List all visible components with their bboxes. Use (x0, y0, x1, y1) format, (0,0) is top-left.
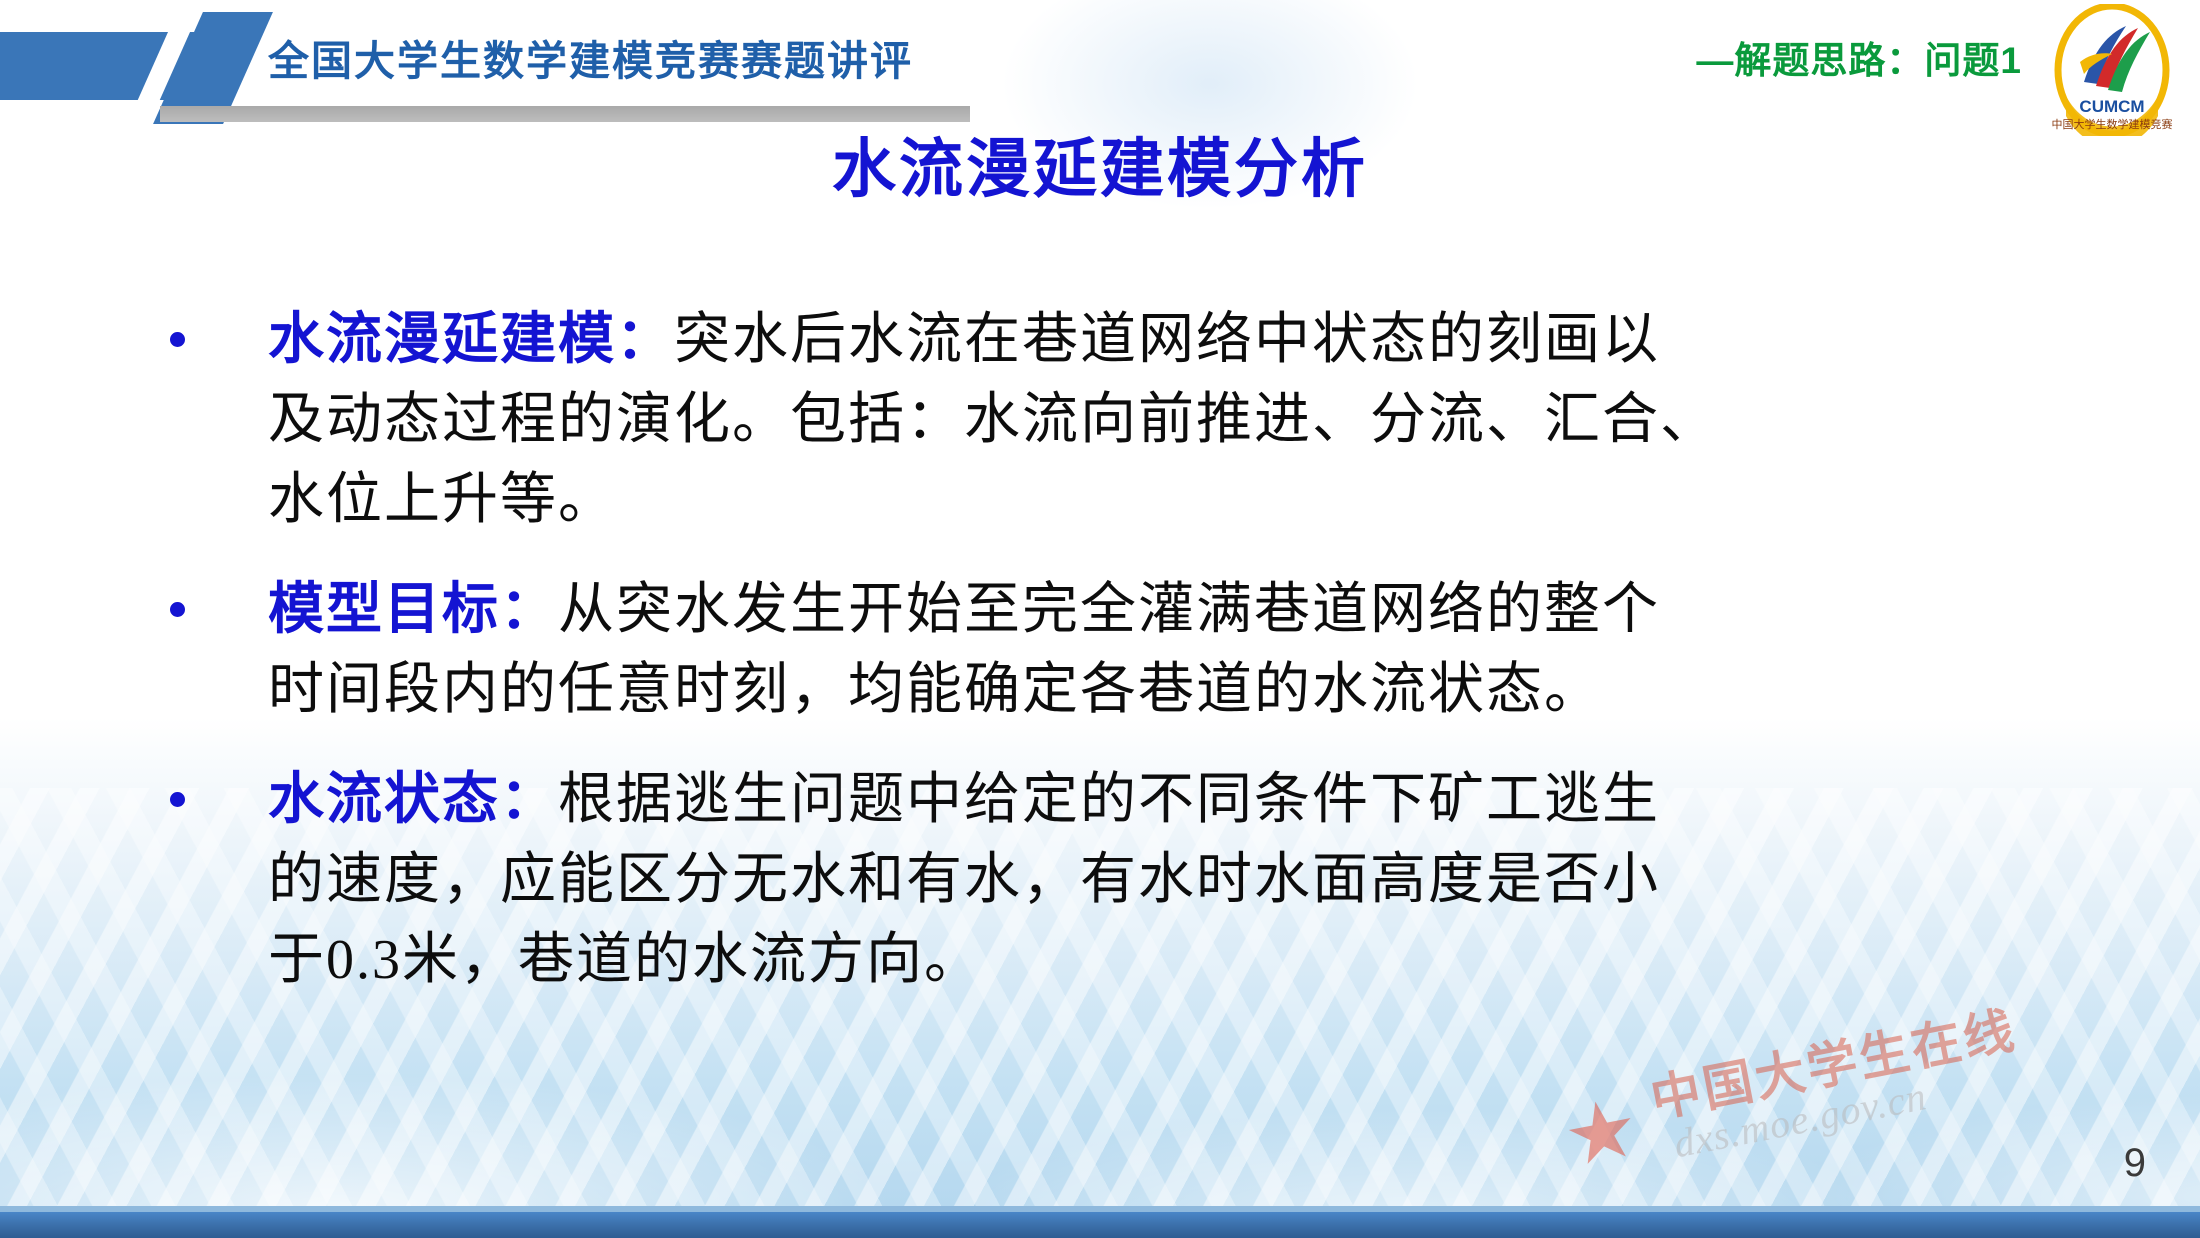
slide-canvas: 全国大学生数学建模竞赛赛题讲评 —解题思路：问题1 CUMCM 中国大学生数学建… (0, 0, 2200, 1238)
bullet-lines: 水流状态：根据逃生问题中给定的不同条件下矿工逃生 的速度，应能区分无水和有水，有… (268, 760, 2080, 1000)
cumcm-logo-icon: CUMCM 中国大学生数学建模竞赛 (2042, 4, 2182, 136)
bullet-text: 根据逃生问题中给定的不同条件下矿工逃生 (558, 769, 1660, 831)
bullet-text: 于0.3米，巷道的水流方向。 (268, 929, 982, 991)
bullet-text: 及动态过程的演化。包括：水流向前推进、分流、汇合、 (268, 389, 1718, 451)
bullet-text: 从突水发生开始至完全灌满巷道网络的整个 (558, 579, 1660, 641)
bullet-dot-icon (170, 602, 185, 617)
bullet-text: 突水后水流在巷道网络中状态的刻画以 (674, 309, 1660, 371)
bullet-line: 的速度，应能区分无水和有水，有水时水面高度是否小 (268, 840, 2080, 920)
header-title: 全国大学生数学建模竞赛赛题讲评 (268, 27, 913, 87)
bullet-dot-icon (170, 332, 185, 347)
bullet-line: 时间段内的任意时刻，均能确定各巷道的水流状态。 (268, 650, 2080, 730)
page-number: 9 (2124, 1141, 2146, 1186)
bullet-label: 水流状态： (268, 769, 558, 831)
bullet-lines: 模型目标：从突水发生开始至完全灌满巷道网络的整个 时间段内的任意时刻，均能确定各… (268, 570, 2080, 730)
bullet-line: 水流状态：根据逃生问题中给定的不同条件下矿工逃生 (268, 760, 2080, 840)
bullet-line: 水流漫延建模：突水后水流在巷道网络中状态的刻画以 (268, 300, 2080, 380)
bullet-text: 水位上升等。 (268, 469, 616, 531)
page-title: 水流漫延建模分析 (0, 118, 2200, 210)
bullet-line: 及动态过程的演化。包括：水流向前推进、分流、汇合、 (268, 380, 2080, 460)
bullet-line: 模型目标：从突水发生开始至完全灌满巷道网络的整个 (268, 570, 2080, 650)
bullet-item: 水流漫延建模：突水后水流在巷道网络中状态的刻画以 及动态过程的演化。包括：水流向… (150, 300, 2080, 540)
bullet-dot-icon (170, 792, 185, 807)
header-subtitle: —解题思路：问题1 (1696, 30, 2022, 84)
footer-bar (0, 1212, 2200, 1238)
bullet-line: 于0.3米，巷道的水流方向。 (268, 920, 2080, 1000)
logo-text: CUMCM (2079, 97, 2144, 116)
bullet-item: 模型目标：从突水发生开始至完全灌满巷道网络的整个 时间段内的任意时刻，均能确定各… (150, 570, 2080, 730)
bullet-text: 时间段内的任意时刻，均能确定各巷道的水流状态。 (268, 659, 1602, 721)
bullet-item: 水流状态：根据逃生问题中给定的不同条件下矿工逃生 的速度，应能区分无水和有水，有… (150, 760, 2080, 1000)
bullet-text: 的速度，应能区分无水和有水，有水时水面高度是否小 (268, 849, 1660, 911)
bullet-line: 水位上升等。 (268, 460, 2080, 540)
bullet-label: 水流漫延建模： (268, 309, 674, 371)
slide-body: 水流漫延建模：突水后水流在巷道网络中状态的刻画以 及动态过程的演化。包括：水流向… (150, 300, 2080, 1030)
watermark-star-icon: ★ (1558, 1086, 1646, 1181)
bullet-lines: 水流漫延建模：突水后水流在巷道网络中状态的刻画以 及动态过程的演化。包括：水流向… (268, 300, 2080, 540)
watermark-url: dxs.moe.gov.cn (1670, 1072, 1931, 1167)
bullet-label: 模型目标： (268, 579, 558, 641)
